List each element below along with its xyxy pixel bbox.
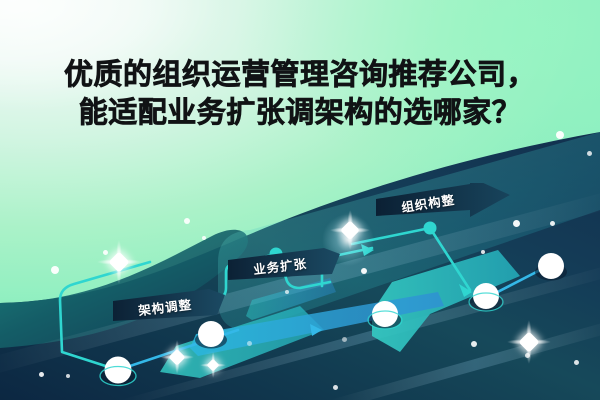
headline-line-1: 优质的组织运营管理咨询推荐公司，	[64, 59, 536, 91]
label-org-restructure: 组织构整	[372, 183, 512, 219]
poster-canvas: 优质的组织运营管理咨询推荐公司， 能适配业务扩张调架构的选哪家？ 组织构整	[0, 0, 600, 400]
label-business-expansion: 业务扩张	[228, 248, 340, 282]
node-upper-teal	[424, 222, 437, 235]
node-start	[105, 357, 132, 384]
node-right-mid	[473, 283, 499, 309]
headline-line-2: 能适配业务扩张调架构的选哪家？	[0, 94, 600, 132]
label-structure-adjust: 架构调整	[113, 289, 225, 323]
page-title: 优质的组织运营管理咨询推荐公司， 能适配业务扩张调架构的选哪家？	[0, 56, 600, 132]
node-lower-right	[372, 301, 398, 327]
node-second	[198, 321, 224, 347]
node-end	[538, 253, 564, 279]
